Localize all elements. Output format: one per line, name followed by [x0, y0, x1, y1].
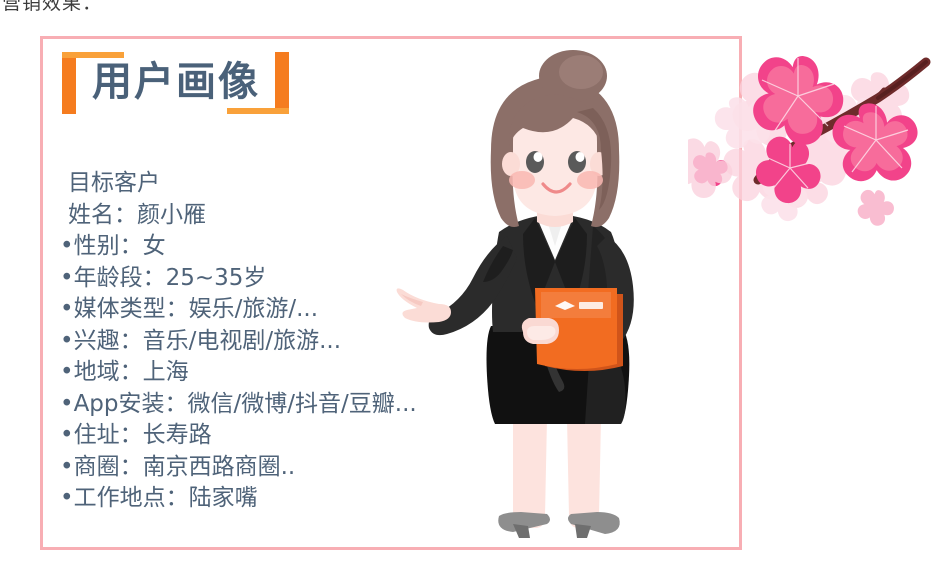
bullet-icon: • [60, 265, 74, 291]
bullet-icon: • [60, 328, 74, 354]
bullet-icon: • [60, 422, 74, 448]
bullet-icon: • [60, 359, 74, 385]
card-title-group: 用户画像 [62, 52, 312, 114]
bracket-left-vertical-icon [62, 52, 76, 114]
bullet-icon: • [60, 391, 74, 417]
page-title: 用户画像 [92, 51, 260, 113]
bullet-icon: • [60, 233, 74, 259]
list-item-label: 商圈：南京西路商圈.. [74, 454, 296, 480]
slide-canvas: 营销效果： 用户画像 目标客户 姓名：颜小雁 •性别：女 •年龄段：25~35岁… [0, 0, 941, 579]
bracket-right-vertical-icon [275, 52, 289, 114]
list-item-label: App安装：微信/微博/抖音/豆瓣... [74, 391, 417, 417]
list-item-label: 工作地点：陆家嘴 [74, 485, 258, 511]
bullet-icon: • [60, 296, 74, 322]
list-item-label: 兴趣：音乐/电视剧/旅游... [74, 328, 341, 354]
list-item-label: 地域：上海 [74, 359, 189, 385]
list-item-label: 性别：女 [74, 233, 166, 259]
bullet-icon: • [60, 454, 74, 480]
list-item-label: 媒体类型：娱乐/旅游/... [74, 296, 318, 322]
list-item-label: 住址：长寿路 [74, 422, 212, 448]
businesswoman-illustration [395, 46, 715, 546]
list-item-label: 年龄段：25~35岁 [74, 265, 267, 291]
bullet-icon: • [60, 485, 74, 511]
top-caption: 营销效果： [2, 0, 102, 15]
cherry-blossom-decoration [688, 28, 941, 228]
